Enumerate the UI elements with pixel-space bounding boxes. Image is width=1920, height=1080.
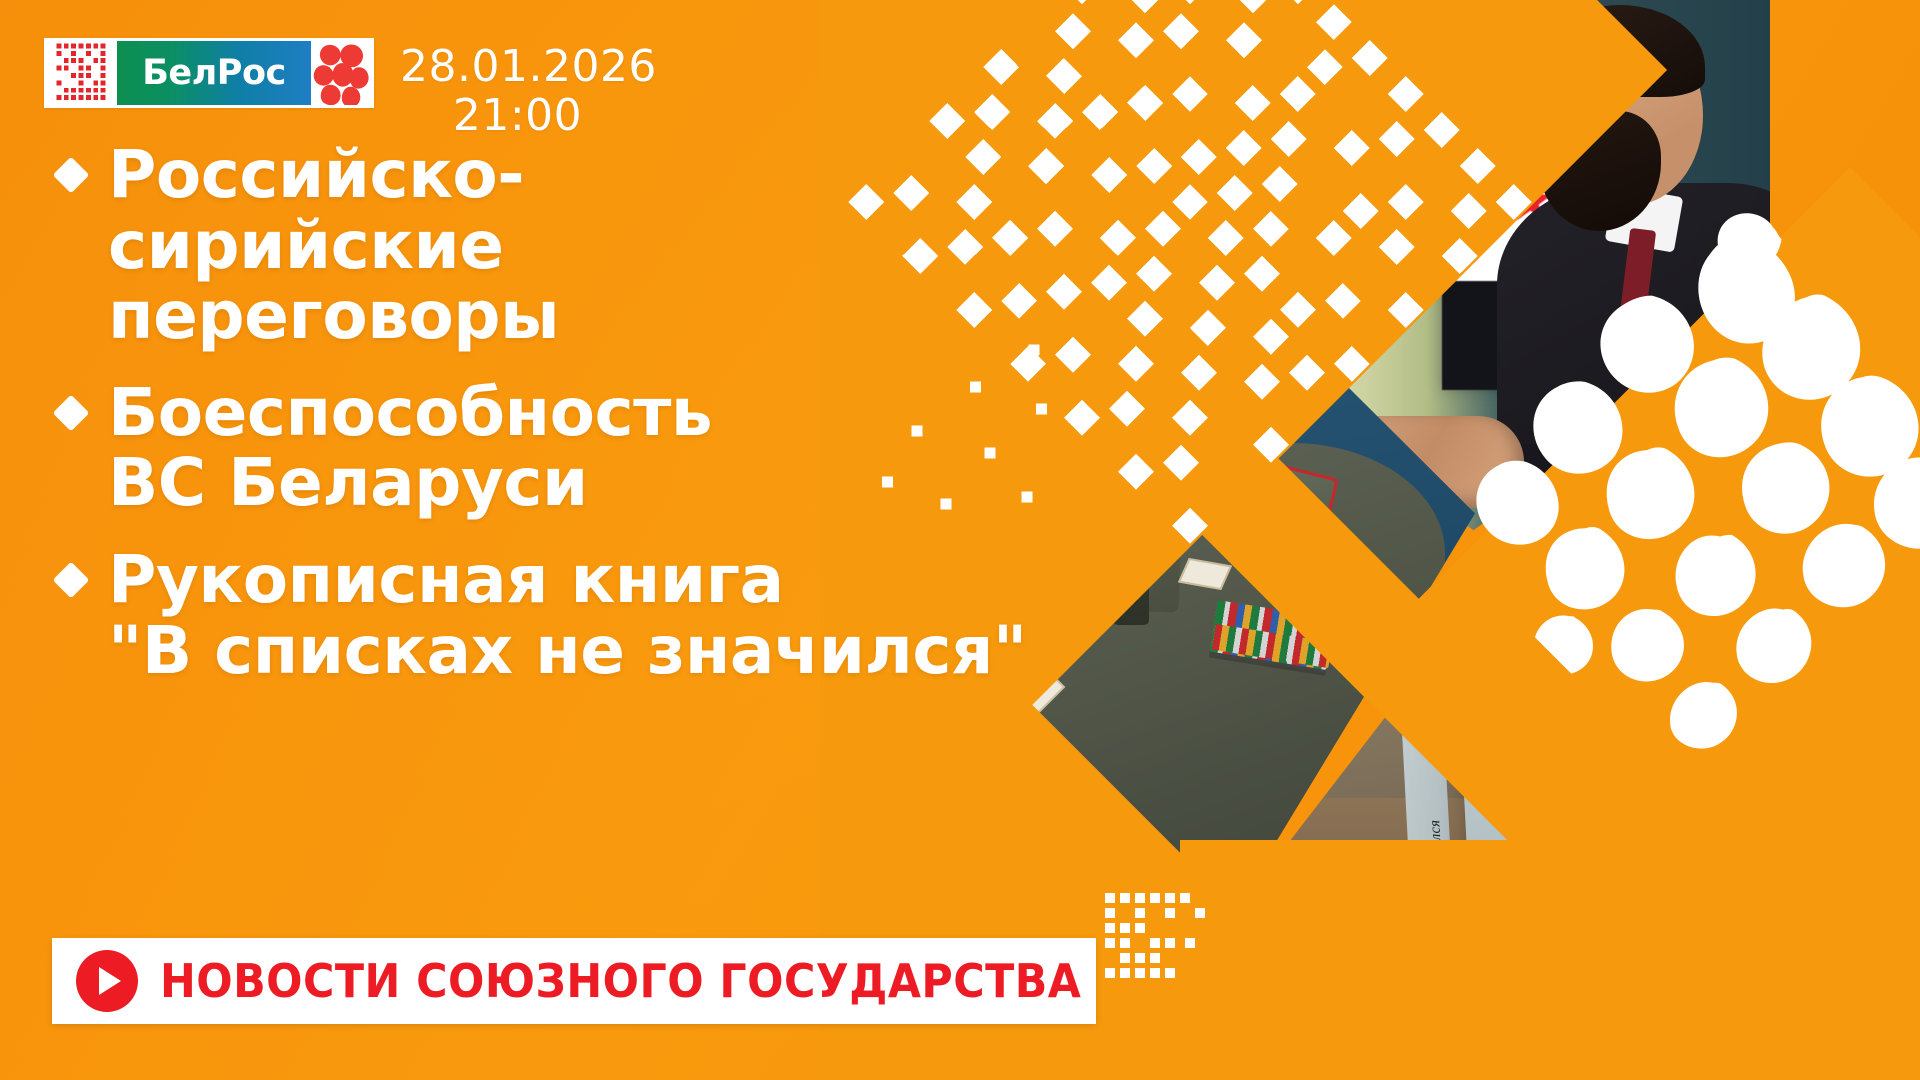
headline-item[interactable]: Боеспособность ВС Беларуси bbox=[44, 378, 1124, 519]
broadcast-time: 21:00 bbox=[400, 91, 635, 140]
logo-text: БелРос bbox=[142, 53, 286, 93]
headline-item[interactable]: Рукописная книга "В списках не значился" bbox=[44, 545, 1124, 686]
program-title: НОВОСТИ СОЮЗНОГО ГОСУДАРСТВА bbox=[160, 954, 1081, 1008]
belarusian-ornament-icon bbox=[1100, 888, 1250, 988]
diamond-bullet-icon bbox=[53, 394, 90, 431]
program-banner[interactable]: НОВОСТИ СОЮЗНОГО ГОСУДАРСТВА bbox=[52, 938, 1096, 1024]
logo-wordmark-block: БелРос bbox=[117, 41, 311, 105]
belros-logo[interactable]: БелРос bbox=[44, 38, 374, 108]
headline-list: Российско- сирийские переговоры Боеспосо… bbox=[44, 140, 1124, 712]
headline-text: Боеспособность ВС Беларуси bbox=[108, 378, 712, 519]
floral-emblem-icon bbox=[313, 41, 371, 105]
orange-block-bottom bbox=[1180, 840, 1920, 1080]
headline-text: Российско- сирийские переговоры bbox=[108, 140, 559, 352]
belarusian-ornament-icon bbox=[47, 41, 115, 105]
play-button-icon[interactable] bbox=[76, 950, 138, 1012]
broadcast-datetime: 28.01.2026 21:00 bbox=[400, 42, 635, 141]
broadcast-date: 28.01.2026 bbox=[400, 42, 635, 91]
diamond-bullet-icon bbox=[53, 157, 90, 194]
headline-item[interactable]: Российско- сирийские переговоры bbox=[44, 140, 1124, 352]
headline-text: Рукописная книга "В списках не значился" bbox=[108, 545, 1027, 686]
diamond-bullet-icon bbox=[53, 562, 90, 599]
